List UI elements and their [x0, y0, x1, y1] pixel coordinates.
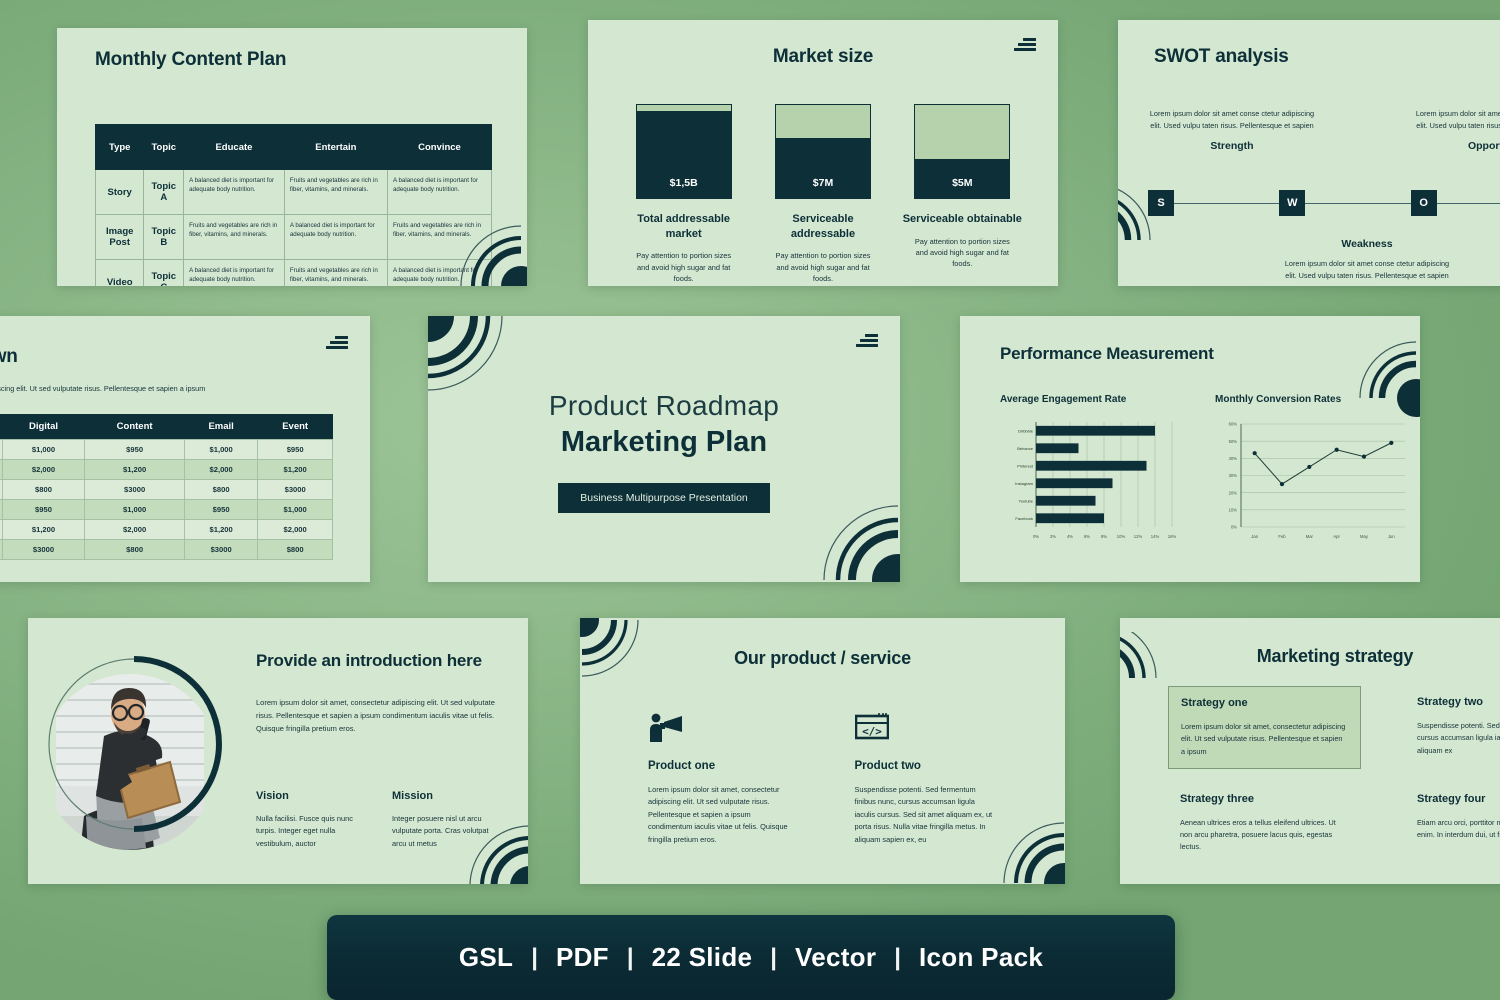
swot-connector: [1174, 203, 1279, 204]
title-line-1: Product Roadmap: [428, 390, 900, 422]
mission-heading: Mission: [392, 790, 492, 802]
title-block: Product Roadmap Marketing Plan Business …: [428, 390, 900, 513]
cell-topic: Topic C: [144, 260, 184, 287]
content-plan-table: Type Topic Educate Entertain Convince St…: [95, 124, 492, 286]
cell-convince: A balanced diet is important for adequat…: [387, 170, 491, 215]
svg-text:0%: 0%: [1231, 525, 1237, 530]
swot-node-w: W: [1279, 190, 1305, 216]
col-entertain: Entertain: [284, 125, 387, 170]
cell-amount: $1,200: [85, 460, 185, 480]
chart-title-engagement: Average Engagement Rate: [1000, 394, 1205, 405]
table-row: February$2,000$1,200$2,000$1,200: [0, 460, 333, 480]
strategy-desc: Lorem ipsum dolor sit amet, consectetur …: [1181, 721, 1348, 758]
swot-bottom-group: Weakness Lorem ipsum dolor sit amet cons…: [1283, 238, 1500, 282]
swot-timeline: S W O T: [1148, 190, 1500, 216]
cell-entertain: Fruits and vegetables are rich in fiber,…: [284, 170, 387, 215]
swot-text: Lorem ipsum dolor sit amet conse ctetur …: [1414, 108, 1500, 132]
svg-text:Youtube: Youtube: [1018, 498, 1033, 503]
market-bar: $1,5B: [636, 104, 732, 199]
product-item: Product one Lorem ipsum dolor sit amet, …: [648, 712, 791, 846]
engagement-chart-block: Average Engagement Rate 0%2%4%6%8%10%12%…: [960, 394, 1205, 548]
strategy-desc: Etiam arcu orci, porttitor nec ipsum luc…: [1417, 817, 1500, 842]
vision-block: Vision Nulla facilisi. Fusce quis nunc t…: [256, 790, 356, 850]
cell-amount: $1,000: [184, 440, 257, 460]
strategy-heading: Strategy one: [1181, 697, 1348, 709]
strategy-heading: Strategy two: [1417, 696, 1500, 708]
page-subtitle: r sit amet, consectetur adipiscing elit.…: [0, 384, 370, 393]
slide-market-size[interactable]: Market size $1,5B Total addressable mark…: [588, 20, 1058, 286]
code-window-icon: </>: [855, 712, 998, 746]
cell-amount: $950: [184, 500, 257, 520]
col-convince: Convince: [387, 125, 491, 170]
page-title: Market size: [588, 46, 1058, 68]
format-pdf: PDF: [556, 942, 609, 973]
table-row: April$950$1,000$950$1,000: [0, 500, 333, 520]
slide-swot-analysis[interactable]: SWOT analysis Lorem ipsum dolor sit amet…: [1118, 20, 1500, 286]
product-columns: Product one Lorem ipsum dolor sit amet, …: [580, 712, 1065, 846]
slide-budget-breakdown[interactable]: t breakdown r sit amet, consectetur adip…: [0, 316, 370, 582]
svg-text:20%: 20%: [1229, 490, 1238, 495]
cell-amount: $3000: [258, 480, 333, 500]
cell-amount: $3000: [184, 540, 257, 560]
product-item: </> Product two Suspendisse potenti. Sed…: [855, 712, 998, 846]
vision-mission-row: Vision Nulla facilisi. Fusce quis nunc t…: [256, 790, 492, 850]
page-title: Monthly Content Plan: [95, 49, 527, 71]
title-line-2: Marketing Plan: [428, 426, 900, 459]
slide-product-service[interactable]: Our product / service Product one Lorem …: [580, 618, 1065, 884]
stacked-bars-icon: [856, 334, 878, 349]
table-row: Video Topic C A balanced diet is importa…: [96, 260, 492, 287]
cell-educate: A balanced diet is important for adequat…: [184, 260, 285, 287]
svg-text:May: May: [1360, 534, 1369, 539]
cell-entertain: A balanced diet is important for adequat…: [284, 215, 387, 260]
cell-type: Video: [96, 260, 144, 287]
swot-label-opportunity: Opportunity: [1414, 140, 1500, 152]
strategy-card-two[interactable]: Strategy two Suspendisse potenti. Sed fe…: [1405, 686, 1500, 769]
table-row: March$800$3000$800$3000: [0, 480, 333, 500]
format-slide-count: 22 Slide: [652, 942, 753, 973]
swot-strength: Lorem ipsum dolor sit amet conse ctetur …: [1148, 108, 1316, 152]
market-bar: $7M: [775, 104, 871, 199]
col-email: Email: [184, 414, 257, 440]
budget-table: Month Digital Content Email Event Januar…: [0, 414, 333, 560]
slide-performance-measurement[interactable]: Performance Measurement Average Engageme…: [960, 316, 1420, 582]
cell-amount: $950: [2, 500, 85, 520]
separator: |: [894, 944, 901, 972]
bar-chart: 0%2%4%6%8%10%12%14%16%DribbbleBehancePin…: [1000, 418, 1180, 543]
concentric-rings-decoration-top: [428, 316, 512, 400]
market-desc: Pay attention to portion sizes and avoid…: [901, 236, 1023, 270]
svg-text:10%: 10%: [1229, 507, 1238, 512]
svg-text:Feb: Feb: [1278, 534, 1286, 539]
swot-opportunity: Lorem ipsum dolor sit amet conse ctetur …: [1414, 108, 1500, 152]
market-bar: $5M: [914, 104, 1010, 199]
cell-convince: Fruits and vegetables are rich in fiber,…: [387, 215, 491, 260]
separator: |: [627, 944, 634, 972]
page-title: Marketing strategy: [1120, 646, 1500, 667]
svg-text:</>: </>: [862, 725, 882, 738]
vision-heading: Vision: [256, 790, 356, 802]
cell-amount: $3000: [85, 480, 185, 500]
svg-text:50%: 50%: [1229, 439, 1238, 444]
stacked-bars-icon: [326, 336, 348, 351]
cell-type: Image Post: [96, 215, 144, 260]
svg-text:14%: 14%: [1151, 534, 1160, 539]
cell-topic: Topic B: [144, 215, 184, 260]
swot-text: Lorem ipsum dolor sit amet conse ctetur …: [1283, 258, 1451, 282]
strategy-card-four[interactable]: Strategy four Etiam arcu orci, porttitor…: [1405, 783, 1500, 864]
svg-text:30%: 30%: [1229, 473, 1238, 478]
budget-table-body: January$1,000$950$1,000$950February$2,00…: [0, 440, 333, 560]
svg-text:Jun: Jun: [1388, 534, 1395, 539]
swot-connector: [1437, 203, 1500, 204]
page-title: t breakdown: [0, 346, 370, 368]
strategy-grid: Strategy one Lorem ipsum dolor sit amet,…: [1168, 686, 1500, 864]
svg-text:6%: 6%: [1084, 534, 1090, 539]
cell-convince: A balanced diet is important for adequat…: [387, 260, 491, 287]
separator: |: [770, 944, 777, 972]
photo-ring-decoration: [46, 656, 222, 832]
cell-amount: $1,200: [2, 520, 85, 540]
col-educate: Educate: [184, 125, 285, 170]
col-type: Type: [96, 125, 144, 170]
table-row: Image Post Topic B Fruits and vegetables…: [96, 215, 492, 260]
market-item: $7M Serviceable addressable Pay attentio…: [762, 104, 884, 284]
table-row: June$3000$800$3000$800: [0, 540, 333, 560]
strategy-desc: Aenean ultrices eros a tellus eleifend u…: [1180, 817, 1349, 854]
page-title: Provide an introduction here: [256, 650, 490, 673]
svg-text:Pinterest: Pinterest: [1017, 463, 1034, 468]
slide-introduction[interactable]: Provide an introduction here Lorem ipsum…: [28, 618, 528, 884]
market-desc: Pay attention to portion sizes and avoid…: [762, 250, 884, 284]
cell-amount: $800: [85, 540, 185, 560]
col-digital: Digital: [2, 414, 85, 440]
cell-amount: $3000: [2, 540, 85, 560]
swot-label-strength: Strength: [1148, 140, 1316, 152]
market-item: $5M Serviceable obtainable Pay attention…: [901, 104, 1023, 284]
format-vector: Vector: [795, 942, 876, 973]
product-desc: Lorem ipsum dolor sit amet, consectetur …: [648, 784, 791, 846]
product-heading: Product two: [855, 760, 998, 772]
cell-amount: $1,000: [2, 440, 85, 460]
svg-text:8%: 8%: [1101, 534, 1107, 539]
svg-text:40%: 40%: [1229, 456, 1238, 461]
table-row: Story Topic A A balanced diet is importa…: [96, 170, 492, 215]
market-item: $1,5B Total addressable market Pay atten…: [623, 104, 745, 284]
market-desc: Pay attention to portion sizes and avoid…: [623, 250, 745, 284]
svg-text:Mar: Mar: [1306, 534, 1314, 539]
swot-top-group: Lorem ipsum dolor sit amet conse ctetur …: [1148, 108, 1500, 152]
market-size-columns: $1,5B Total addressable market Pay atten…: [588, 104, 1058, 284]
swot-node-o: O: [1411, 190, 1437, 216]
conversion-chart-block: Monthly Conversion Rates 0%10%20%30%40%5…: [1205, 394, 1420, 548]
svg-text:12%: 12%: [1134, 534, 1143, 539]
col-topic: Topic: [144, 125, 184, 170]
strategy-card-three[interactable]: Strategy three Aenean ultrices eros a te…: [1168, 783, 1361, 864]
market-heading: Serviceable addressable: [762, 212, 884, 241]
line-chart: 0%10%20%30%40%50%60%JanFebMarAprMayJun: [1215, 418, 1415, 543]
table-header-row: Month Digital Content Email Event: [0, 414, 333, 440]
strategy-heading: Strategy four: [1417, 793, 1500, 805]
col-content: Content: [85, 414, 185, 440]
cell-amount: $2,000: [85, 520, 185, 540]
cell-amount: $2,000: [258, 520, 333, 540]
cell-amount: $800: [2, 480, 85, 500]
intro-paragraph: Lorem ipsum dolor sit amet, consectetur …: [256, 697, 500, 736]
cell-amount: $950: [258, 440, 333, 460]
cell-amount: $800: [184, 480, 257, 500]
page-title: Performance Measurement: [1000, 344, 1420, 364]
cell-amount: $800: [258, 540, 333, 560]
slide-monthly-content-plan[interactable]: Monthly Content Plan Type Topic Educate …: [57, 28, 527, 286]
page-title: SWOT analysis: [1154, 46, 1500, 68]
cell-type: Story: [96, 170, 144, 215]
svg-text:Instagram: Instagram: [1015, 481, 1033, 486]
strategy-heading: Strategy three: [1180, 793, 1349, 805]
cell-amount: $950: [85, 440, 185, 460]
product-desc: Suspendisse potenti. Sed fermentum finib…: [855, 784, 998, 846]
cell-amount: $1,000: [258, 500, 333, 520]
cell-educate: Fruits and vegetables are rich in fiber,…: [184, 215, 285, 260]
svg-text:Facebook: Facebook: [1015, 516, 1033, 521]
separator: |: [531, 944, 538, 972]
table-row: January$1,000$950$1,000$950: [0, 440, 333, 460]
svg-text:Apr: Apr: [1333, 534, 1340, 539]
table-header-row: Type Topic Educate Entertain Convince: [96, 125, 492, 170]
mission-block: Mission Integer posuere nisl ut arcu vul…: [392, 790, 492, 850]
subtitle-badge: Business Multipurpose Presentation: [558, 483, 770, 513]
slide-marketing-strategy[interactable]: Marketing strategy Strategy one Lorem ip…: [1120, 618, 1500, 884]
market-heading: Total addressable market: [623, 212, 745, 241]
cell-amount: $2,000: [184, 460, 257, 480]
svg-text:Jan: Jan: [1251, 534, 1258, 539]
svg-text:16%: 16%: [1168, 534, 1177, 539]
svg-text:0%: 0%: [1033, 534, 1039, 539]
product-heading: Product one: [648, 760, 791, 772]
cell-topic: Topic A: [144, 170, 184, 215]
stacked-bars-icon: [1014, 38, 1036, 53]
format-icon-pack: Icon Pack: [919, 942, 1043, 973]
slide-title-cover[interactable]: Product Roadmap Marketing Plan Business …: [428, 316, 900, 582]
svg-text:60%: 60%: [1229, 422, 1238, 427]
col-event: Event: [258, 414, 333, 440]
swot-node-s: S: [1148, 190, 1174, 216]
svg-text:10%: 10%: [1117, 534, 1126, 539]
swot-text: Lorem ipsum dolor sit amet conse ctetur …: [1148, 108, 1316, 132]
cell-amount: $1,200: [258, 460, 333, 480]
chart-title-conversion: Monthly Conversion Rates: [1215, 394, 1420, 405]
svg-text:4%: 4%: [1067, 534, 1073, 539]
strategy-desc: Suspendisse potenti. Sed fermentum finib…: [1417, 720, 1500, 757]
cell-entertain: Fruits and vegetables are rich in fiber,…: [284, 260, 387, 287]
cell-amount: $1,000: [85, 500, 185, 520]
charts-row: Average Engagement Rate 0%2%4%6%8%10%12%…: [960, 394, 1420, 548]
market-bar-value: $5M: [915, 159, 1009, 198]
market-bar-value: $7M: [776, 138, 870, 198]
svg-text:Behance: Behance: [1017, 446, 1034, 451]
mission-text: Integer posuere nisl ut arcu vulputate p…: [392, 813, 492, 850]
page-title: Our product / service: [580, 648, 1065, 669]
svg-text:2%: 2%: [1050, 534, 1056, 539]
swot-connector: [1305, 203, 1410, 204]
cell-amount: $1,200: [184, 520, 257, 540]
table-row: May$1,200$2,000$1,200$2,000: [0, 520, 333, 540]
format-gsl: GSL: [459, 942, 513, 973]
format-banner: GSL | PDF | 22 Slide | Vector | Icon Pac…: [327, 915, 1175, 1000]
megaphone-person-icon: [648, 712, 791, 746]
cell-educate: A balanced diet is important for adequat…: [184, 170, 285, 215]
slide-grid: Monthly Content Plan Type Topic Educate …: [0, 0, 1500, 1000]
cell-amount: $2,000: [2, 460, 85, 480]
svg-text:Dribbble: Dribbble: [1018, 428, 1034, 433]
vision-text: Nulla facilisi. Fusce quis nunc turpis. …: [256, 813, 356, 850]
swot-label-weakness: Weakness: [1283, 238, 1451, 250]
market-bar-value: $1,5B: [637, 111, 731, 198]
swot-weakness: Weakness Lorem ipsum dolor sit amet cons…: [1283, 238, 1451, 282]
strategy-card-one[interactable]: Strategy one Lorem ipsum dolor sit amet,…: [1168, 686, 1361, 769]
market-heading: Serviceable obtainable: [901, 212, 1023, 227]
